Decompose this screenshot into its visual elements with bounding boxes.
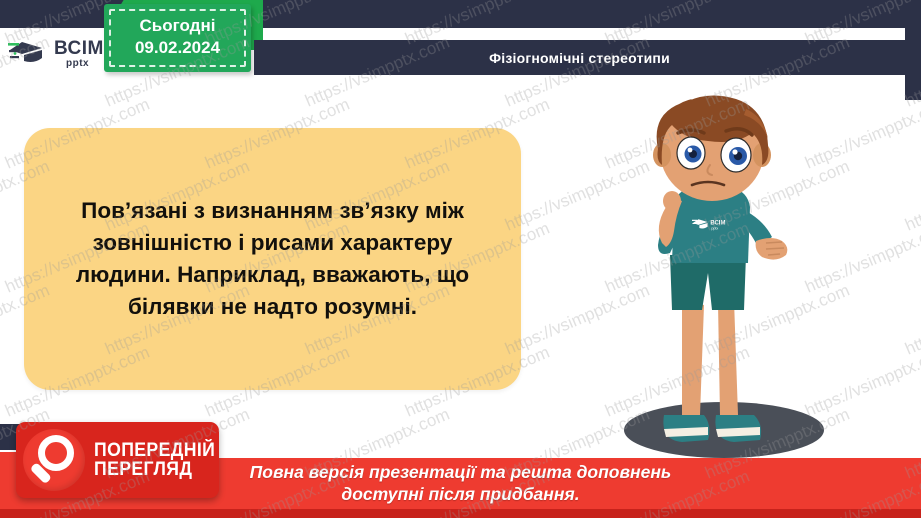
- date-badge-label: Сьогодні: [104, 15, 251, 37]
- preview-badge[interactable]: ПОПЕРЕДНІЙ ПЕРЕГЛЯД: [16, 422, 219, 498]
- banner-line2: доступні після придбання.: [341, 484, 579, 506]
- date-badge-value: 09.02.2024: [104, 37, 251, 59]
- banner-footer-strip: [0, 509, 921, 518]
- thinking-boy-illustration: ВСІМ pptx: [596, 95, 836, 465]
- page-title: Фізіогномічні стереотипи: [489, 50, 670, 66]
- today-date-badge: Сьогодні 09.02.2024: [104, 4, 251, 72]
- watermark-text: https://vsimpptx.com: [902, 281, 921, 360]
- brand-logo[interactable]: ВСІМ pptx: [8, 33, 112, 75]
- watermark-text: https://vsimpptx.com: [902, 157, 921, 236]
- logo-subtitle: pptx: [66, 59, 104, 69]
- svg-text:pptx: pptx: [711, 226, 718, 230]
- content-card-text: Пов’язані з визнанням зв’язку між зовніш…: [24, 195, 521, 323]
- preview-badge-line1: ПОПЕРЕДНІЙ: [94, 441, 215, 460]
- svg-text:ВСІМ: ВСІМ: [710, 220, 725, 226]
- magnifier-icon: [23, 429, 85, 491]
- content-card: Пов’язані з визнанням зв’язку між зовніш…: [24, 128, 521, 390]
- preview-badge-line2: ПЕРЕГЛЯД: [94, 460, 215, 479]
- graduation-cap-icon: [8, 37, 50, 71]
- logo-title: ВСІМ: [54, 39, 104, 58]
- slide-title-bar: Фізіогномічні стереотипи: [254, 40, 905, 75]
- presentation-slide: ВСІМ pptx Сьогодні 09.02.2024 Фізіогномі…: [0, 0, 921, 518]
- top-dark-band-right-edge: [905, 0, 921, 100]
- banner-line1: Повна версія презентації та решта доповн…: [250, 462, 672, 484]
